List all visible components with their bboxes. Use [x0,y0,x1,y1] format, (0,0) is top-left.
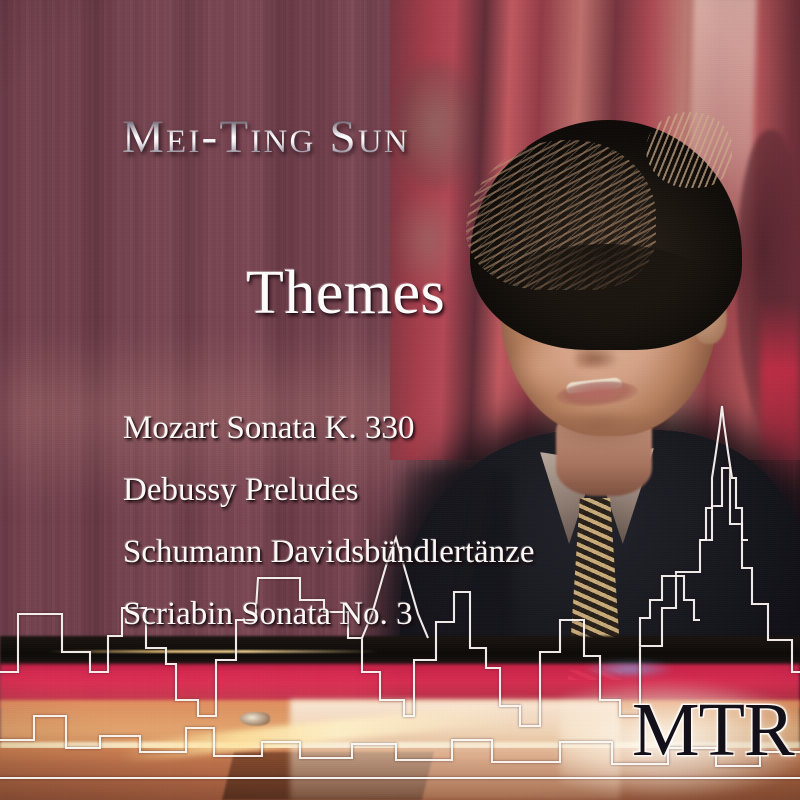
track-item: Schumann Davidsbündlertänze [123,536,683,569]
hair-spiked-tuft [646,112,732,188]
piano-small-object [240,712,270,726]
artist-name: Mei-Ting Sun [122,110,410,164]
record-label-logo: MTR [632,692,794,768]
album-cover: Mei-Ting Sun Themes Mozart Sonata K. 330… [0,0,800,800]
backdrop-red-sliver [760,300,800,500]
face-nose-shadow [572,352,620,368]
track-item: Debussy Preludes [123,474,683,507]
track-item: Mozart Sonata K. 330 [123,412,683,445]
hair-forehead-shadow [486,244,726,354]
piano-blue-glint [584,660,674,678]
album-title: Themes [246,258,445,329]
tracklist: Mozart Sonata K. 330 Debussy Preludes Sc… [123,412,683,631]
track-item: Scriabin Sonata No. 3 [123,598,683,631]
piano-gold-string-line [48,650,378,653]
